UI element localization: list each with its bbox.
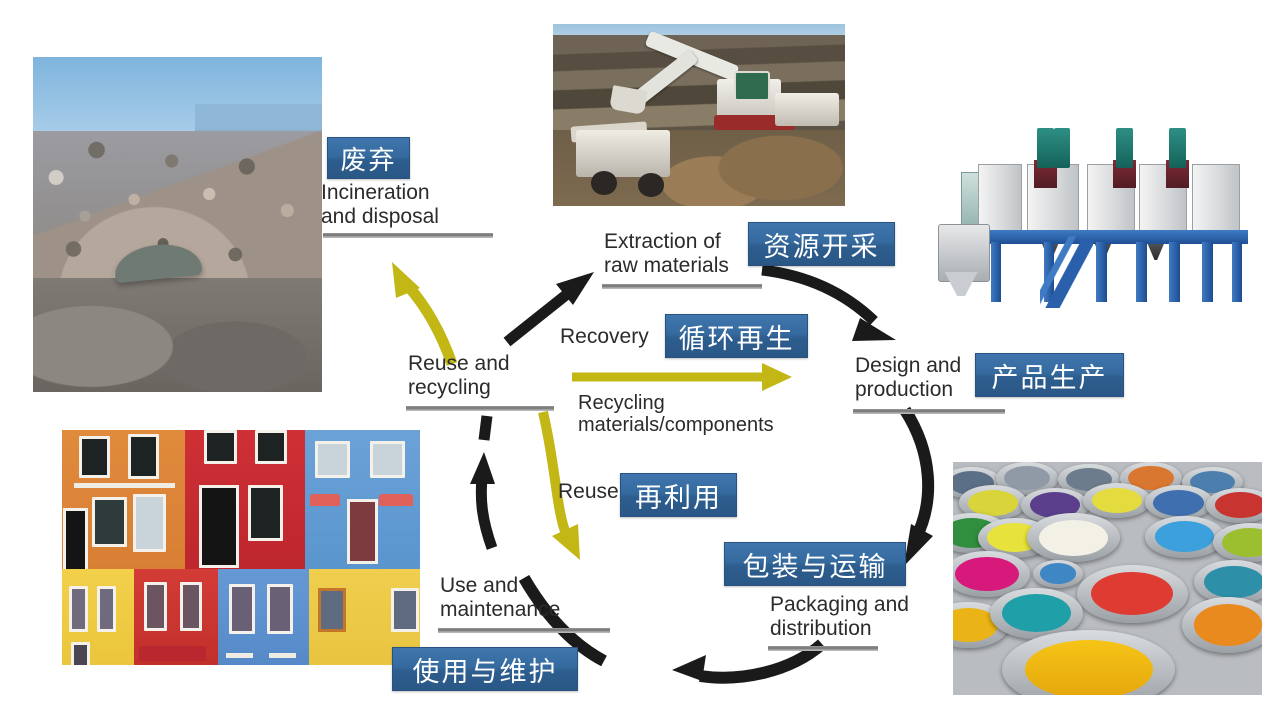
underline-use (438, 628, 610, 633)
circular-economy-diagram: 废弃 Incineration and disposal 资源开采 Extrac… (0, 0, 1280, 720)
label-disposal-en: Incineration and disposal (321, 181, 531, 228)
label-recovery-en: Recovery (560, 325, 649, 349)
arrow-to-disposal-yellow (392, 262, 452, 364)
arrow-to-packaging-black (904, 410, 933, 566)
arrow-recycling-materials-yellow (572, 363, 792, 391)
label-reuse-en: Reuse (558, 480, 619, 504)
badge-use[interactable]: 使用与维护 (392, 647, 578, 691)
underline-disposal (323, 233, 493, 238)
label-reuse-recycling-en: Reuse and recycling (408, 352, 558, 399)
underline-reuse-recycling (406, 406, 554, 411)
badge-reuse[interactable]: 再利用 (620, 473, 737, 517)
label-extraction-en: Extraction of raw materials (604, 230, 764, 277)
label-use-en: Use and maintenance (440, 574, 610, 621)
label-recycling-materials-en: Recycling materials/components (578, 392, 838, 437)
paint-cans-photo (953, 462, 1262, 695)
demolition-rubble-photo (33, 57, 322, 392)
label-production-en: Design and production (855, 354, 1000, 401)
mining-excavator-photo (553, 24, 845, 206)
colourful-houses-photo (62, 430, 420, 665)
badge-disposal[interactable]: 废弃 (327, 137, 410, 179)
badge-extraction[interactable]: 资源开采 (748, 222, 895, 266)
arrow-to-reuse-recycling-black (470, 416, 495, 548)
underline-production (853, 409, 1005, 414)
label-packaging-en: Packaging and distribution (770, 593, 950, 640)
underline-packaging (768, 646, 878, 651)
badge-recovery[interactable]: 循环再生 (665, 314, 808, 358)
badge-packaging[interactable]: 包装与运输 (724, 542, 906, 586)
industrial-plant-photo (938, 116, 1268, 316)
underline-extraction (602, 284, 762, 289)
